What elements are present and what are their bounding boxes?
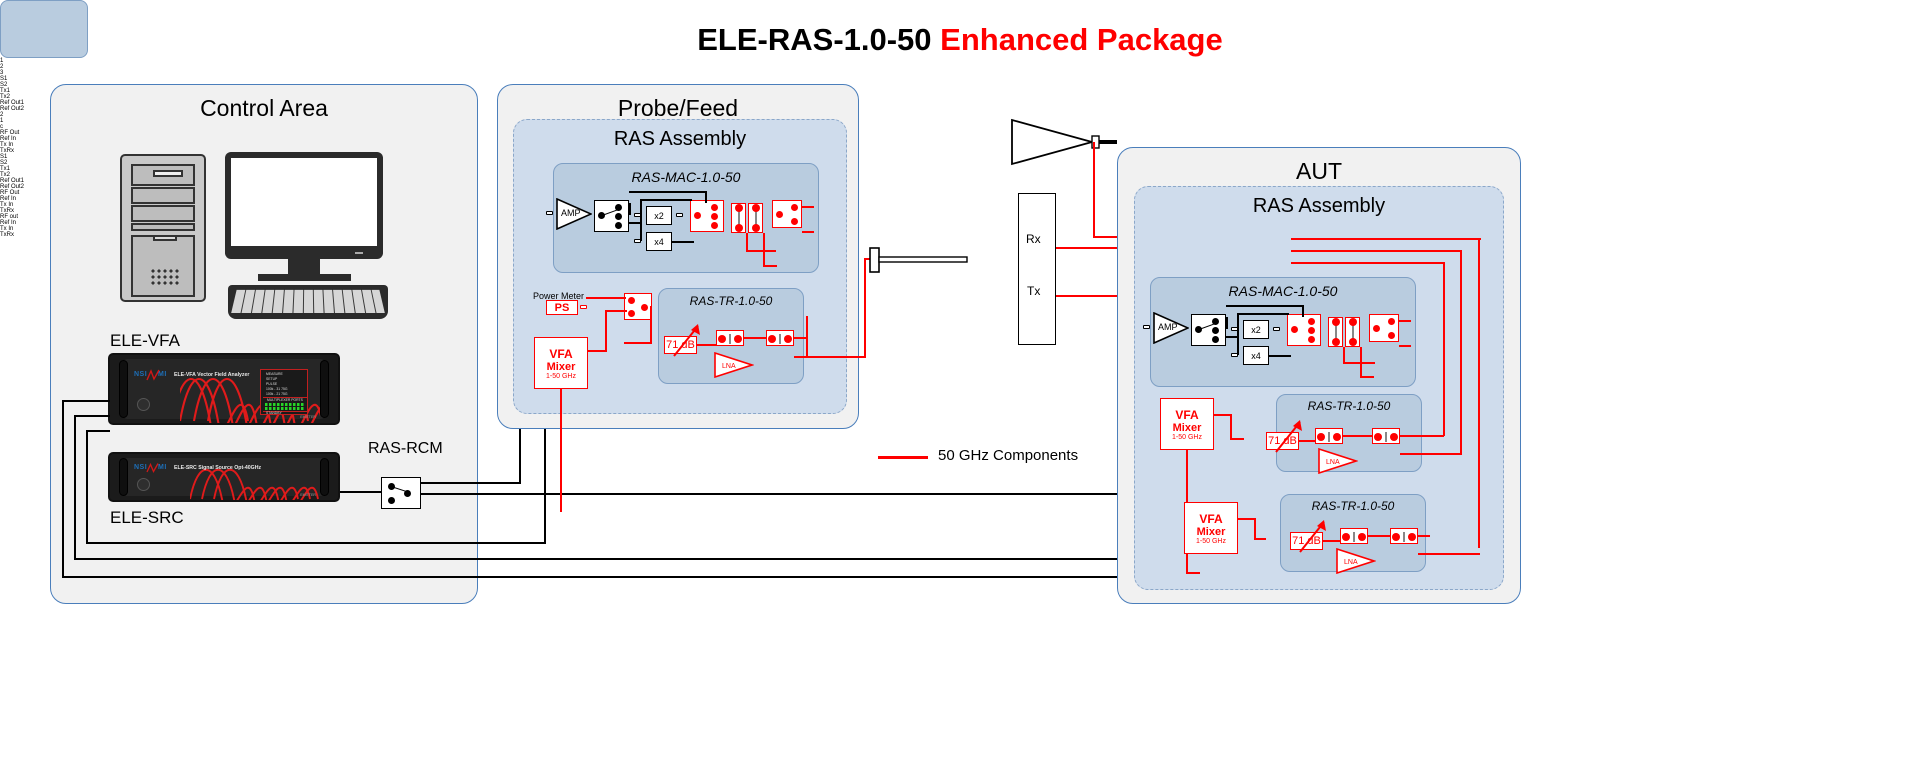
- aut-tr2-coupler-1: [1340, 528, 1368, 544]
- aut-bus-8: [1291, 250, 1461, 252]
- aut-lna-2: LNA: [1336, 548, 1376, 574]
- ele-src-label: ELE-SRC: [110, 508, 184, 528]
- aut-vfa1-w3: [1230, 438, 1244, 440]
- wire-vfa-bus-7: [86, 430, 110, 432]
- probe-vfa-mixer-down2: [560, 510, 562, 512]
- probe-coupler-1: [731, 203, 746, 233]
- aut-mac-red-4: [1343, 362, 1375, 364]
- ras-rcm-switch[interactable]: [381, 477, 421, 509]
- aut-tr2-w4: [1418, 553, 1430, 555]
- probe-vfa-mixer: VFA Mixer 1-50 GHz: [534, 337, 588, 389]
- vfa-model-text: ELE-VFA Vector Field Analyzer: [174, 372, 249, 378]
- vfa-led-row-3: 100k - 31 75G: [266, 387, 288, 391]
- aut-bus-6: [1412, 435, 1444, 437]
- probe-tr-w2: [744, 337, 766, 339]
- aut-tr1-w4: [1400, 453, 1412, 455]
- svg-text:LNA: LNA: [722, 363, 736, 370]
- probe-to-aut-1: [806, 356, 866, 358]
- zone-control-area-title: Control Area: [51, 95, 477, 122]
- wire-src-to-rcm: [340, 491, 382, 493]
- aut-tr1-w2: [1343, 435, 1372, 437]
- aut-tr-2-arrow: [1298, 518, 1328, 554]
- wire-vfa-bus-6: [74, 558, 1122, 560]
- aut-bus-2: [1430, 553, 1480, 555]
- aut-coupler-2: [1345, 317, 1360, 347]
- aut-vfa1-down2: [1186, 572, 1200, 574]
- vfa-ports-title: MULTIPLEXER PORTS: [267, 398, 303, 402]
- aut-amp: AMP: [1153, 312, 1189, 344]
- aut-mac-w2: [1226, 305, 1304, 307]
- probe-ps-w4: [586, 350, 607, 352]
- zone-aut-title: AUT: [1118, 158, 1520, 185]
- aut-bus-9: [1291, 262, 1444, 264]
- aut-bus-7: [1291, 238, 1481, 240]
- aut-vfa-mixer-2-l1: VFA: [1199, 512, 1222, 526]
- probe-tr-arrow: [672, 322, 702, 358]
- aut-mult-x4: x4: [1243, 346, 1269, 365]
- legend-color-swatch: [878, 456, 928, 459]
- aut-tr1-coupler-1: [1315, 428, 1343, 444]
- page-title: ELE-RAS-1.0-50 Enhanced Package: [0, 22, 1920, 58]
- top-horn-antenna: [1010, 118, 1120, 171]
- probe-mult-x2: x2: [646, 206, 672, 225]
- vfa-led-row-0: MEASURE: [266, 372, 283, 376]
- src-power-button[interactable]: [137, 478, 150, 491]
- legend-label: 50 GHz Components: [938, 447, 1078, 464]
- probe-s2-switch[interactable]: [690, 200, 724, 232]
- vfa-led-row-1: SETUP: [266, 377, 277, 381]
- probe-tr-w1: [697, 344, 717, 346]
- probe-amp-label: AMP: [561, 208, 581, 218]
- aut-ras-tr-2-title: RAS-TR-1.0-50: [1281, 499, 1425, 513]
- tx-wire: [1056, 295, 1122, 297]
- aut-ras-tr-1-title: RAS-TR-1.0-50: [1277, 399, 1421, 413]
- aut-mac-w1: [1226, 317, 1228, 329]
- pc-tower: [120, 154, 206, 302]
- aut-tr-1-arrow: [1274, 418, 1304, 454]
- ele-src-device[interactable]: NSI MI ELE-SRC Signal Source Opt-40GHz E…: [108, 452, 340, 502]
- probe-mac-red-4: [746, 250, 776, 252]
- probe-mac-w3: [705, 191, 707, 203]
- pc-monitor: [225, 152, 383, 259]
- probe-horn-antenna: [866, 246, 968, 279]
- probe-amp-in-bead: [546, 211, 553, 215]
- aut-vfa-mixer-1-l3: 1-50 GHz: [1172, 434, 1202, 441]
- wire-vfa-bus-3: [62, 576, 1122, 578]
- aut-mac-red-2: [1399, 345, 1411, 347]
- probe-tr-coupler-2: [766, 330, 794, 346]
- probe-mult-x4: x4: [646, 232, 672, 251]
- aut-ras-mac-title: RAS-MAC-1.0-50: [1151, 283, 1415, 299]
- aut-vfa2-w3: [1254, 538, 1266, 540]
- horn-feed-red-1: [1093, 142, 1095, 238]
- aut-amp-in-bead: [1143, 325, 1150, 329]
- rx-wire: [1056, 247, 1122, 249]
- tx-label: Tx: [1027, 284, 1040, 298]
- probe-mac-w7: [672, 241, 694, 243]
- probe-ras-assembly-title: RAS Assembly: [514, 128, 846, 151]
- probe-ps-w3: [605, 310, 607, 352]
- vfa-power-button[interactable]: [137, 398, 150, 411]
- aut-mac-w3: [1302, 305, 1304, 317]
- rx-label: Rx: [1026, 232, 1041, 246]
- probe-ps-w6: [624, 342, 652, 344]
- aut-mac-w7: [1269, 355, 1291, 357]
- aut-out-switch[interactable]: [1369, 314, 1399, 342]
- wire-vfa-bus-4: [74, 415, 110, 417]
- aut-tr2-coupler-2: [1390, 528, 1418, 544]
- wire-vfa-bus-9: [86, 542, 546, 544]
- probe-vfa-mixer-l1: VFA: [549, 347, 572, 361]
- src-tag: EMITTER: [300, 493, 316, 497]
- probe-ps-w2: [605, 310, 627, 312]
- aut-coupler-1: [1328, 317, 1343, 347]
- monitor-base: [258, 274, 351, 281]
- probe-mac-red-2: [802, 231, 814, 233]
- aut-lna-1: LNA: [1318, 448, 1358, 474]
- probe-mac-w6: [629, 222, 641, 224]
- probe-vfa-mixer-l3: 1-50 GHz: [546, 373, 576, 380]
- wire-vfa-bus-2: [62, 400, 64, 578]
- aut-mac-red-5: [1360, 347, 1362, 378]
- aut-vfa-mixer-1: VFA Mixer 1-50 GHz: [1160, 398, 1214, 450]
- aut-mac-red-6: [1360, 376, 1374, 378]
- aut-mult-x2: x2: [1243, 320, 1269, 339]
- probe-ps-w5: [650, 306, 652, 344]
- aut-tr2-w3: [1418, 535, 1430, 537]
- probe-tr-coupler-1: [716, 330, 744, 346]
- wire-vfa-bus-1: [62, 400, 110, 402]
- aut-tr2-w1: [1323, 540, 1340, 542]
- aut-vfa-mixer-2-l2: Mixer: [1197, 526, 1226, 538]
- aut-ras-assembly-title: RAS Assembly: [1135, 195, 1503, 218]
- probe-lna: LNA: [714, 352, 754, 378]
- probe-x2-out-bead: [676, 213, 683, 217]
- pc-keyboard: [228, 285, 388, 319]
- probe-mac-w1: [629, 203, 631, 215]
- aut-mac-w5: [1237, 313, 1239, 355]
- aut-vfa-mixer-1-l1: VFA: [1175, 408, 1198, 422]
- aut-mac-w4: [1237, 313, 1289, 315]
- probe-ras-tr-title: RAS-TR-1.0-50: [659, 294, 803, 308]
- svg-text:LNA: LNA: [1326, 459, 1340, 466]
- wire-vfa-bus-5: [74, 415, 76, 560]
- src-model-text: ELE-SRC Signal Source Opt-40GHz: [174, 465, 261, 471]
- probe-mac-red-6: [763, 265, 777, 267]
- aut-tr1-coupler-2: [1372, 428, 1400, 444]
- aut-bus-1: [1478, 238, 1480, 548]
- aut-vfa-mixer-2: VFA Mixer 1-50 GHz: [1184, 502, 1238, 554]
- aut-s2-switch[interactable]: [1287, 314, 1321, 346]
- aut-tr1-w1: [1299, 440, 1315, 442]
- probe-vfa-mixer-down: [560, 389, 562, 512]
- src-logo-2: MI: [158, 464, 167, 471]
- title-main: ELE-RAS-1.0-50: [697, 22, 940, 57]
- aut-vfa-mixer-2-l3: 1-50 GHz: [1196, 538, 1226, 545]
- ele-vfa-device[interactable]: NSI MI ELE-VFA Vector Field Analyzer MEA…: [108, 353, 340, 425]
- aut-vfa-mixer-1-l2: Mixer: [1173, 422, 1202, 434]
- aut-bus-4: [1412, 453, 1462, 455]
- vfa-led-row-2: PULSE: [266, 382, 277, 386]
- aut-mac-w6: [1226, 336, 1238, 338]
- aut-tr2-w2: [1368, 535, 1390, 537]
- aut-tr1-w3: [1400, 435, 1412, 437]
- wire-vfa-bus-8: [86, 430, 88, 544]
- power-meter-bead: [580, 305, 587, 309]
- aut-vfa1-w2: [1230, 414, 1232, 438]
- aut-s1-switch[interactable]: [1191, 314, 1226, 346]
- probe-s1-switch[interactable]: [594, 200, 629, 232]
- probe-mac-red-5: [763, 233, 765, 267]
- vfa-tag: EMITTER: [300, 415, 316, 419]
- title-highlight: Enhanced Package: [940, 22, 1223, 57]
- aut-x2-out-bead: [1273, 327, 1280, 331]
- vfa-led-row-4: 100k - 21 75G: [266, 392, 288, 396]
- aut-bus-3: [1460, 250, 1462, 455]
- aut-amp-label: AMP: [1158, 322, 1178, 332]
- aut-vfa2-w2: [1254, 518, 1256, 538]
- probe-mac-w4: [640, 199, 692, 201]
- wire-rcm-out-1: [421, 482, 521, 484]
- zone-probe-feed-title: Probe/Feed: [498, 95, 858, 122]
- aut-mac-red-1: [1399, 320, 1411, 322]
- vfa-led-panel: MEASURE SETUP PULSE 100k - 31 75G 100k -…: [260, 369, 308, 415]
- ras-rcm-label: RAS-RCM: [368, 440, 443, 458]
- probe-mac-red-1: [802, 206, 814, 208]
- probe-ps-w1: [586, 297, 626, 299]
- wire-rcm-out-2: [421, 493, 1121, 495]
- probe-vfa-mixer-l2: Mixer: [547, 361, 576, 373]
- probe-mac-w5: [640, 199, 642, 241]
- probe-tr-w5: [806, 316, 808, 358]
- svg-text:LNA: LNA: [1344, 559, 1358, 566]
- probe-ras-mac-title: RAS-MAC-1.0-50: [554, 169, 818, 185]
- probe-ps-switch[interactable]: [624, 293, 652, 320]
- ele-vfa-label: ELE-VFA: [110, 331, 180, 351]
- probe-coupler-2: [748, 203, 763, 233]
- vfa-status-0: STANDBY: [266, 411, 282, 415]
- probe-amp: AMP: [556, 198, 592, 230]
- rx-tx-panel: Rx Tx: [1018, 193, 1056, 345]
- probe-mac-w2: [629, 191, 707, 193]
- probe-out-switch[interactable]: [772, 200, 802, 228]
- aut-bus-5: [1443, 262, 1445, 436]
- power-meter-ps-box: PS: [546, 300, 578, 315]
